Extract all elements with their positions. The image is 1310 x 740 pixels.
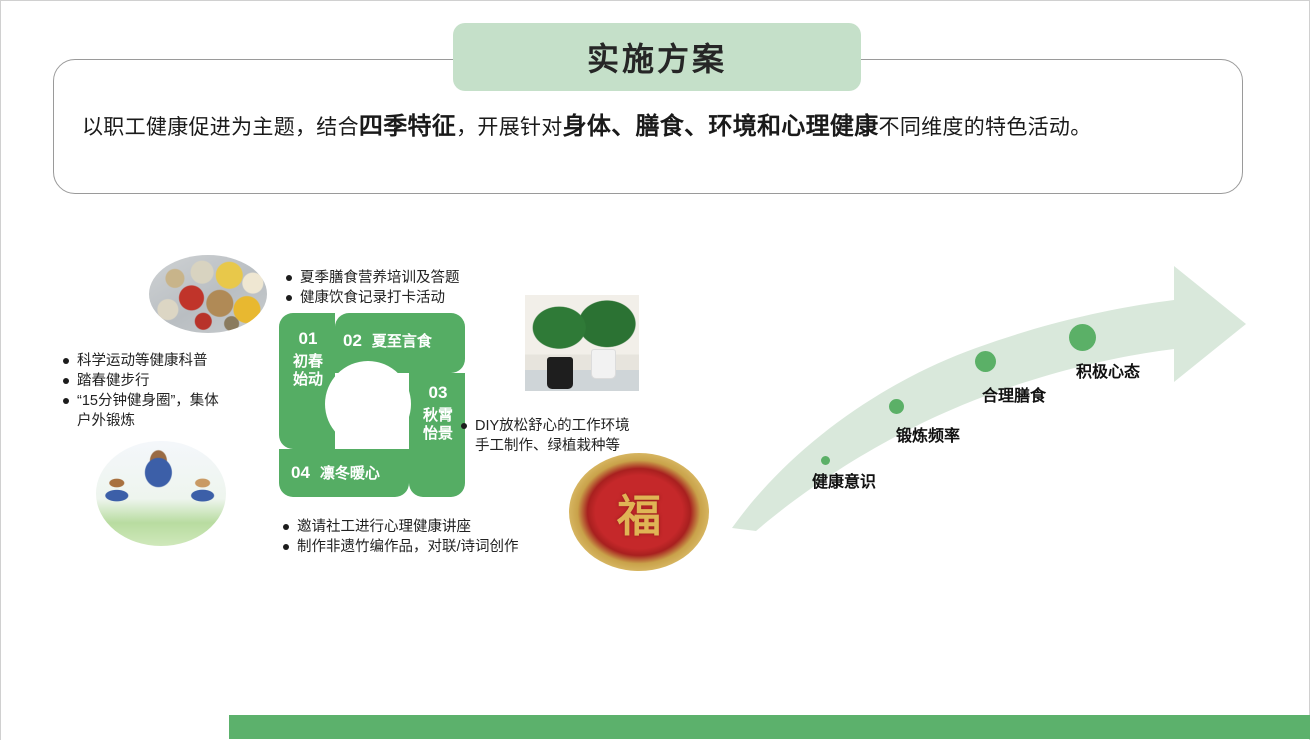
bullet-dot-icon — [286, 295, 292, 301]
bullet-dot-icon — [283, 544, 289, 550]
black-pot — [547, 357, 573, 389]
season-number-04: 04 — [291, 463, 310, 483]
fu-character: 福 — [569, 480, 709, 544]
s-center-hole — [325, 361, 411, 447]
bullets-spring: 科学运动等健康科普 踏春健步行 “15分钟健身圈”，集体 户外锻炼 — [63, 351, 219, 431]
bullet-dot-icon — [283, 524, 289, 530]
list-item: 踏春健步行 — [63, 371, 219, 391]
bullets-summer: 夏季膳食营养培训及答题 健康饮食记录打卡活动 — [286, 268, 460, 308]
season-label-04: 04 凛冬暖心 — [291, 462, 380, 483]
bullet-dot-icon — [63, 398, 69, 404]
list-item: 健康饮食记录打卡活动 — [286, 288, 460, 308]
growth-arrow-chart: 健康意识 锻炼频率 合理膳食 积极心态 — [726, 256, 1256, 531]
bullet-text: 踏春健步行 — [77, 371, 150, 391]
growth-label-3: 合理膳食 — [982, 382, 1046, 406]
season-label-03: 03 秋霄怡景 — [417, 383, 459, 443]
season-name-02: 夏至言食 — [372, 330, 432, 351]
season-label-02: 02 夏至言食 — [343, 330, 432, 351]
bullet-text-continued: 户外锻炼 — [63, 411, 219, 431]
bullet-text: DIY放松舒心的工作环境 — [475, 416, 630, 436]
white-pot — [591, 349, 616, 379]
bullet-text: 夏季膳食营养培训及答题 — [300, 268, 460, 288]
growth-dot-4 — [1069, 324, 1096, 351]
bullet-text: “15分钟健身圈”，集体 — [77, 391, 219, 411]
intro-part-1: 以职工健康促进为主题，结合 — [82, 116, 359, 139]
slide-canvas: 以职工健康促进为主题，结合四季特征，开展针对身体、膳食、环境和心理健康不同维度的… — [0, 0, 1310, 740]
kids-jump-rope-illustration — [96, 441, 226, 546]
intro-paragraph: 以职工健康促进为主题，结合四季特征，开展针对身体、膳食、环境和心理健康不同维度的… — [82, 110, 1222, 145]
growth-dot-2 — [889, 399, 904, 414]
list-item: 夏季膳食营养培训及答题 — [286, 268, 460, 288]
season-label-01: 01 初春始动 — [287, 329, 329, 389]
slide-title-chip: 实施方案 — [453, 23, 861, 91]
bullet-text-continued: 手工制作、绿植栽种等 — [461, 436, 630, 456]
season-name-04: 凛冬暖心 — [320, 462, 380, 483]
bullet-text: 制作非遗竹编作品，对联/诗词创作 — [297, 537, 519, 557]
bullets-winter: 邀请社工进行心理健康讲座 制作非遗竹编作品，对联/诗词创作 — [283, 517, 519, 557]
season-name-03: 秋霄怡景 — [417, 407, 459, 443]
season-number-03: 03 — [429, 383, 448, 402]
list-item: 邀请社工进行心理健康讲座 — [283, 517, 519, 537]
bullet-dot-icon — [63, 378, 69, 384]
growth-dot-3 — [975, 351, 996, 372]
bamboo-woven-fu-craft-photo: 福 — [569, 453, 709, 571]
bullet-dot-icon — [286, 275, 292, 281]
growth-label-2: 锻炼频率 — [896, 422, 960, 446]
potted-anthurium-photo — [525, 295, 639, 391]
intro-bold-1: 四季特征 — [359, 113, 456, 140]
intro-part-3: 不同维度的特色活动。 — [879, 116, 1092, 139]
bullets-environment: DIY放松舒心的工作环境 手工制作、绿植栽种等 — [461, 416, 630, 456]
footer-accent-bar — [229, 715, 1310, 739]
bullet-text: 科学运动等健康科普 — [77, 351, 208, 371]
growth-label-4: 积极心态 — [1076, 358, 1140, 382]
growth-dot-1 — [821, 456, 830, 465]
page-title: 实施方案 — [587, 34, 727, 80]
season-name-01: 初春始动 — [287, 353, 329, 389]
season-number-02: 02 — [343, 331, 362, 351]
bullet-text: 邀请社工进行心理健康讲座 — [297, 517, 471, 537]
grains-bowls-photo — [149, 255, 267, 333]
list-item: 科学运动等健康科普 — [63, 351, 219, 371]
growth-label-1: 健康意识 — [812, 468, 876, 492]
list-item: “15分钟健身圈”，集体 — [63, 391, 219, 411]
list-item: DIY放松舒心的工作环境 — [461, 416, 630, 436]
bullet-dot-icon — [63, 358, 69, 364]
bullet-dot-icon — [461, 423, 467, 429]
seasons-s-diagram: 01 初春始动 02 夏至言食 03 秋霄怡景 04 凛冬暖心 — [279, 313, 465, 497]
list-item: 制作非遗竹编作品，对联/诗词创作 — [283, 537, 519, 557]
bullet-text: 健康饮食记录打卡活动 — [300, 288, 445, 308]
season-number-01: 01 — [299, 329, 318, 348]
intro-part-2: ，开展针对 — [456, 116, 563, 139]
intro-bold-2: 身体、膳食、环境和心理健康 — [563, 113, 879, 140]
